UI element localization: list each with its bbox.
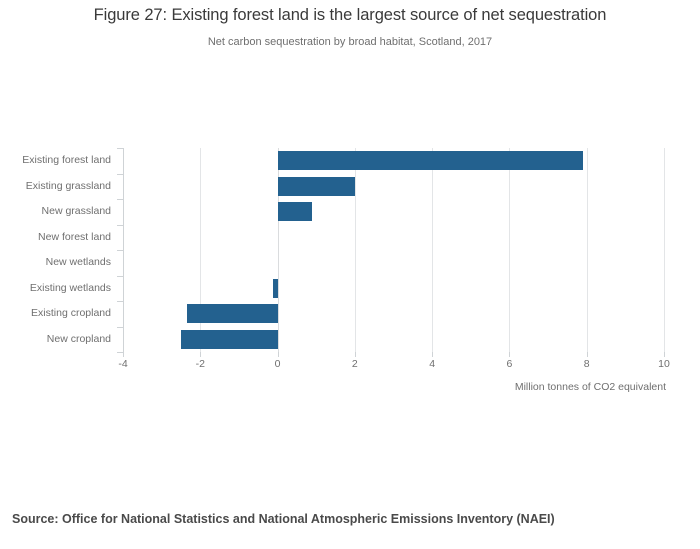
bar-row: [123, 225, 664, 251]
bar-existing-grassland[interactable]: [278, 177, 355, 196]
bar-row: [123, 327, 664, 353]
y-axis-tick: [117, 225, 123, 226]
x-axis-tick-label: 2: [335, 358, 375, 370]
y-axis-labels: Existing forest landExisting grasslandNe…: [0, 148, 116, 352]
plot-area: [123, 148, 664, 352]
source-note: Source: Office for National Statistics a…: [12, 512, 555, 526]
x-axis-tick-label: 8: [567, 358, 607, 370]
x-axis-tick: [355, 352, 356, 357]
x-axis-tick: [123, 352, 124, 357]
y-axis-tick-label: New grassland: [0, 199, 116, 225]
bar-row: [123, 250, 664, 276]
y-axis-tick-label: Existing grassland: [0, 174, 116, 200]
bar-row: [123, 199, 664, 225]
x-axis-tick-label: 6: [489, 358, 529, 370]
y-axis-tick-label: Existing wetlands: [0, 276, 116, 302]
bar-existing-wetlands[interactable]: [273, 279, 278, 298]
y-axis-tick: [117, 276, 123, 277]
y-axis-tick-label: New forest land: [0, 225, 116, 251]
y-axis-tick-label: New cropland: [0, 327, 116, 353]
x-axis-tick: [664, 352, 665, 357]
x-axis-tick-label: 0: [258, 358, 298, 370]
x-axis-tick: [200, 352, 201, 357]
x-axis-tick-label: 4: [412, 358, 452, 370]
x-axis-tick-label: 10: [644, 358, 684, 370]
y-axis-tick: [117, 174, 123, 175]
x-axis-tick: [587, 352, 588, 357]
y-axis-tick: [117, 250, 123, 251]
page-title: Figure 27: Existing forest land is the l…: [0, 6, 700, 25]
bar-new-cropland[interactable]: [181, 330, 278, 349]
bar-row: [123, 276, 664, 302]
x-axis-tick: [278, 352, 279, 357]
chart-subtitle: Net carbon sequestration by broad habita…: [0, 36, 700, 48]
x-axis-tick: [509, 352, 510, 357]
y-axis-tick-label: New wetlands: [0, 250, 116, 276]
bar-new-grassland[interactable]: [278, 202, 312, 221]
bar-row: [123, 174, 664, 200]
bar-row: [123, 148, 664, 174]
y-axis-line: [123, 148, 124, 352]
x-axis-tick-label: -2: [180, 358, 220, 370]
y-axis-tick: [117, 327, 123, 328]
figure-container: Figure 27: Existing forest land is the l…: [0, 0, 700, 549]
y-axis-tick: [117, 199, 123, 200]
gridline-x-10: [664, 148, 665, 352]
x-axis-tick-label: -4: [103, 358, 143, 370]
y-axis-tick-label: Existing cropland: [0, 301, 116, 327]
y-axis-tick: [117, 301, 123, 302]
bar-row: [123, 301, 664, 327]
y-axis-tick: [117, 148, 123, 149]
x-axis-tick: [432, 352, 433, 357]
y-axis-tick-label: Existing forest land: [0, 148, 116, 174]
x-axis-title: Million tonnes of CO2 equivalent: [515, 381, 666, 393]
bar-existing-cropland[interactable]: [187, 304, 278, 323]
bar-existing-forest-land[interactable]: [278, 151, 583, 170]
